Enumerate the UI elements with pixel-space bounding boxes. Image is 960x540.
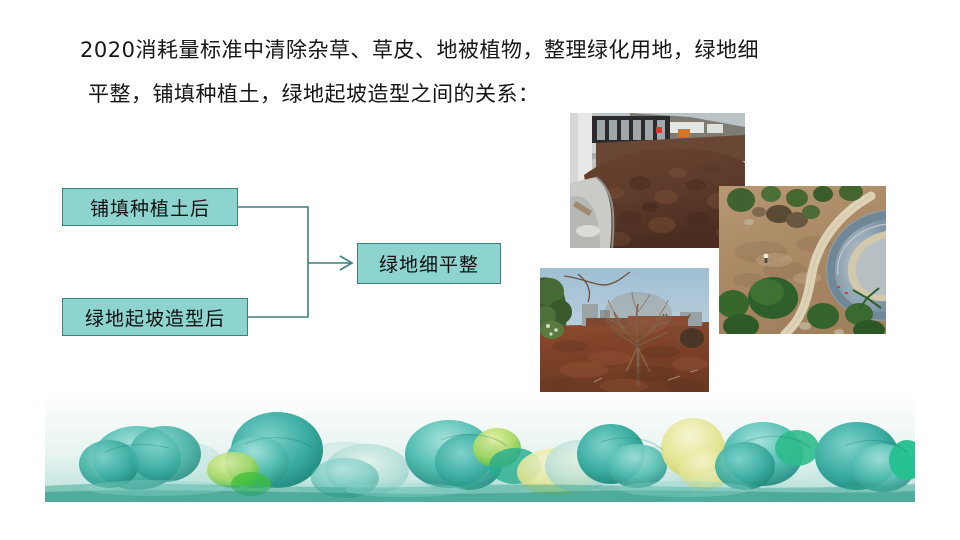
title-line-1: 2020消耗量标准中清除杂草、草皮、地被植物，整理绿化用地，绿地细 — [80, 28, 880, 72]
flow-box-fine-leveling[interactable]: 绿地细平整 — [357, 243, 501, 284]
flow-box-green-slope-shaping[interactable]: 绿地起坡造型后 — [62, 298, 248, 336]
page-title: 2020消耗量标准中清除杂草、草皮、地被植物，整理绿化用地，绿地细 平整，铺填种… — [80, 28, 880, 116]
title-line-2: 平整，铺填种植土，绿地起坡造型之间的关系： — [80, 72, 880, 116]
flow-box-label: 铺填种植土后 — [90, 194, 210, 221]
photo-planted-tree — [540, 268, 709, 392]
slide-canvas: 2020消耗量标准中清除杂草、草皮、地被植物，整理绿化用地，绿地细 平整，铺填种… — [0, 0, 960, 540]
flow-box-fill-planting-soil[interactable]: 铺填种植土后 — [62, 188, 238, 226]
watercolor-tree-band — [45, 392, 915, 502]
photo-aerial-landscape — [719, 186, 886, 334]
flow-box-label: 绿地起坡造型后 — [85, 304, 225, 331]
flow-box-label: 绿地细平整 — [379, 250, 479, 277]
